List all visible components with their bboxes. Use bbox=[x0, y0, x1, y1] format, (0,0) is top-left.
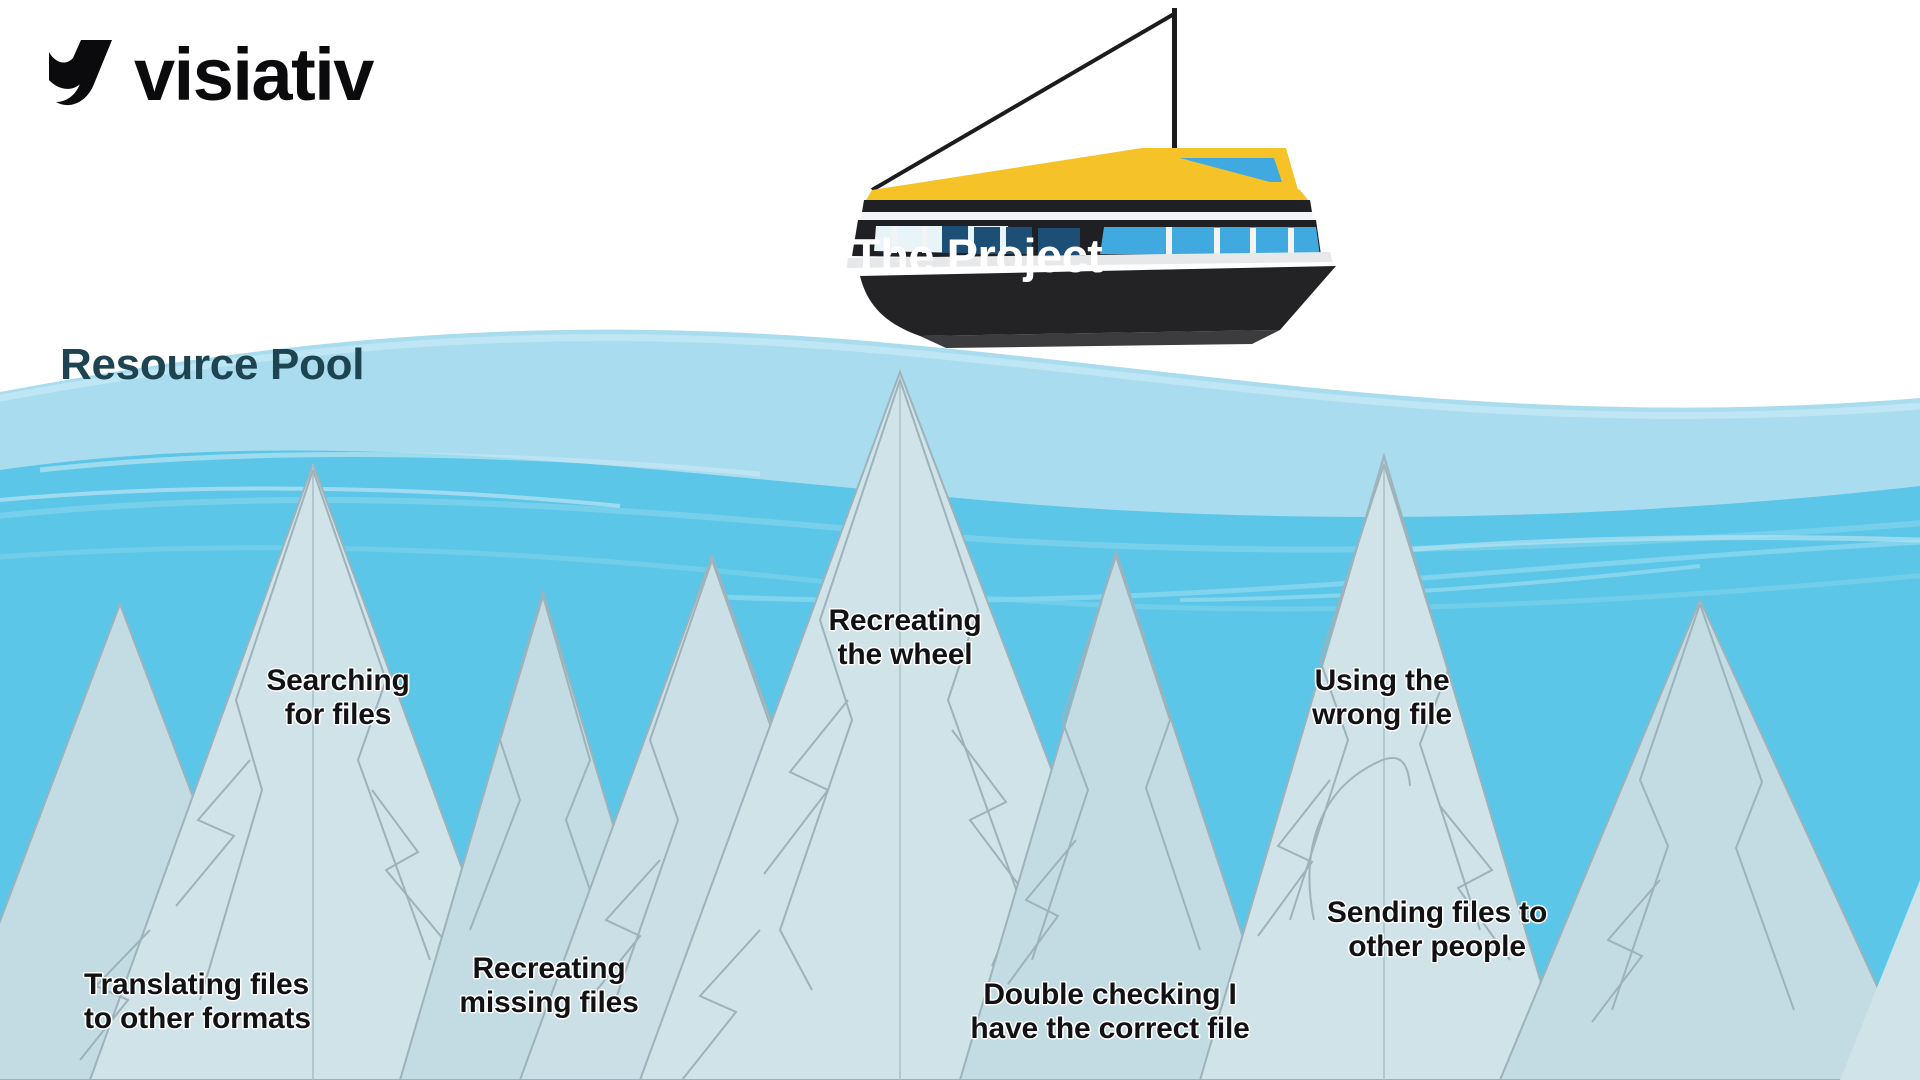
boat-title: The Project bbox=[852, 228, 1102, 283]
infographic-canvas: visiativ The Project Resource Pool Searc… bbox=[0, 0, 1920, 1080]
resource-pool-label: Resource Pool bbox=[60, 340, 364, 390]
peak-label-using-the-wrong-file: Using the wrong file bbox=[1282, 664, 1482, 731]
scene-illustration bbox=[0, 0, 1920, 1080]
brand-logo[interactable]: visiativ bbox=[46, 36, 373, 114]
peak-label-recreating-the-wheel: Recreating the wheel bbox=[790, 604, 1020, 671]
peak-label-sending-files-to-other-people: Sending files to other people bbox=[1292, 896, 1582, 963]
brand-wordmark: visiativ bbox=[134, 38, 373, 112]
visiativ-swoosh-icon bbox=[46, 36, 118, 114]
peak-label-recreating-missing-files: Recreating missing files bbox=[434, 952, 664, 1019]
peak-label-translating-files: Translating files to other formats bbox=[84, 968, 404, 1035]
peak-label-searching-for-files: Searching for files bbox=[238, 664, 438, 731]
peak-label-double-checking-file: Double checking I have the correct file bbox=[940, 978, 1280, 1045]
